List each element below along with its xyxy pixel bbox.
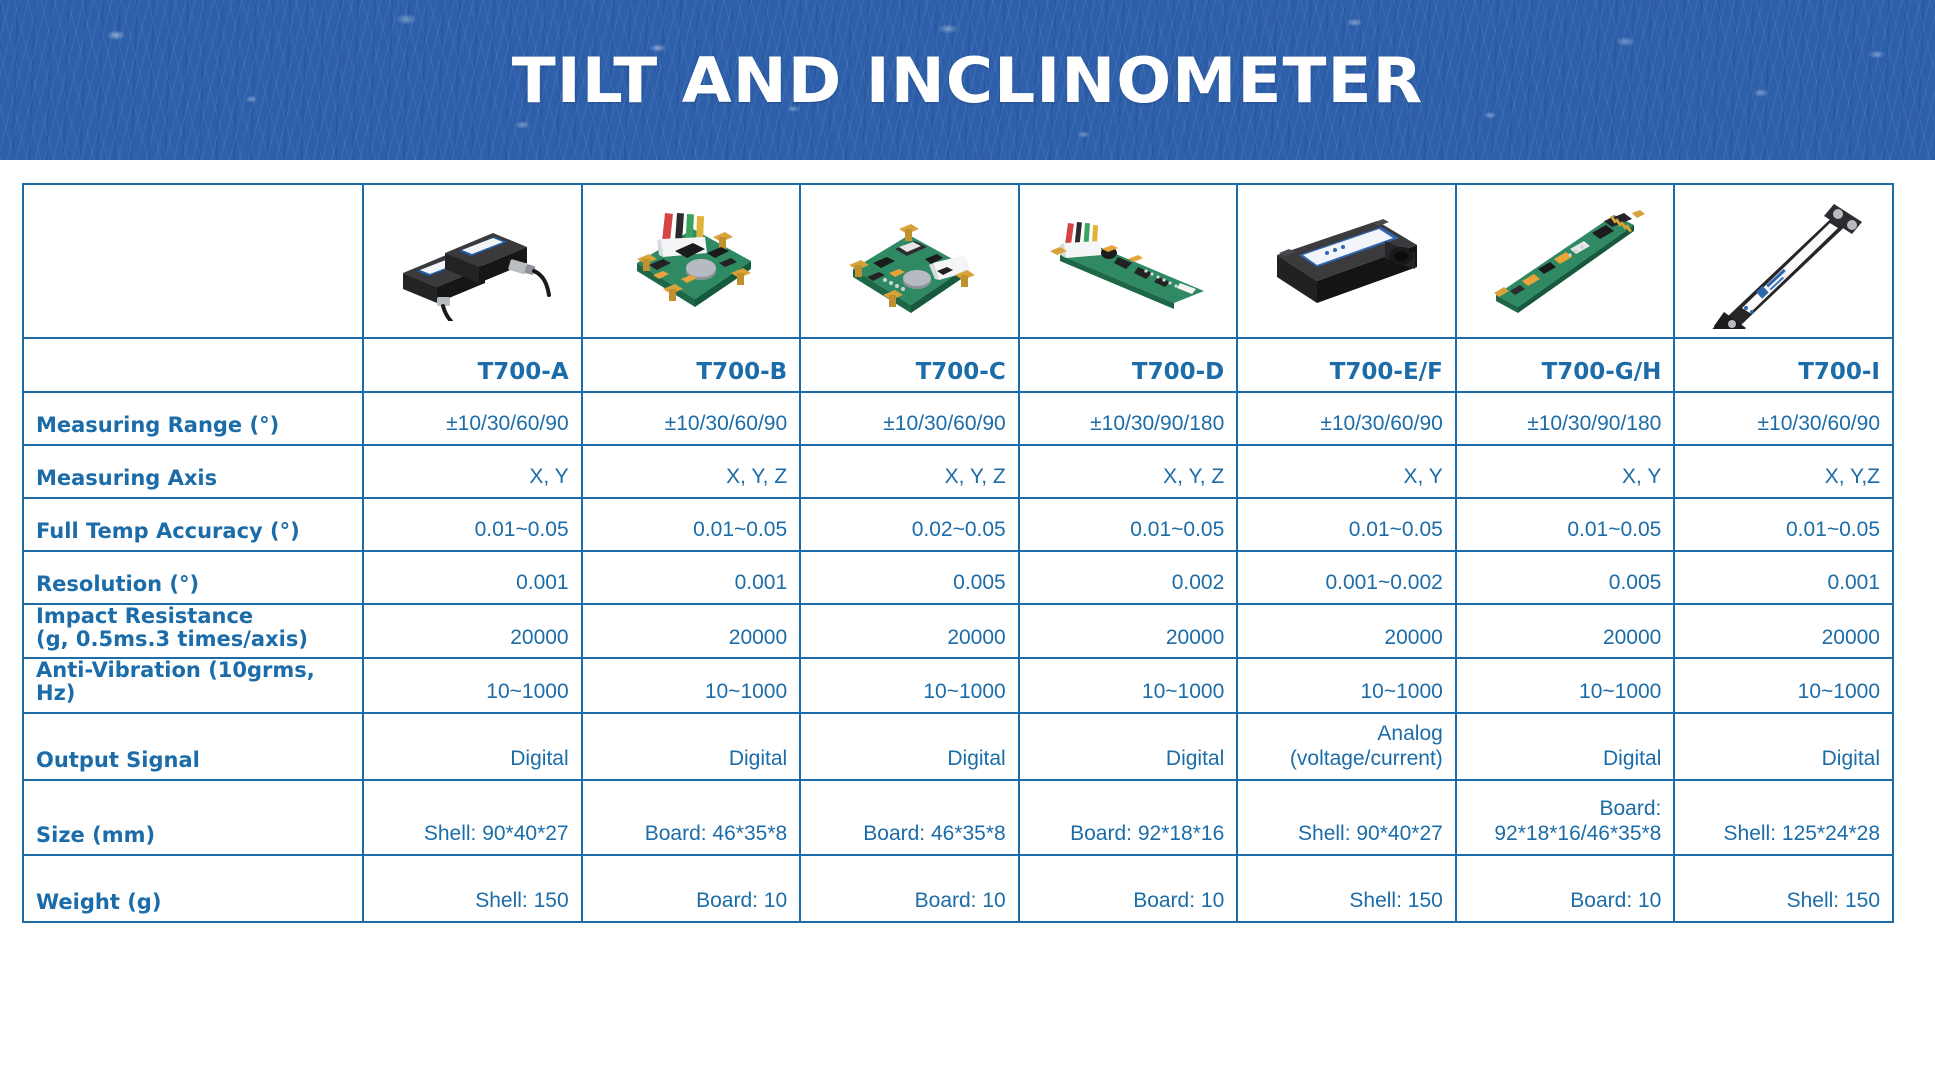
cell-size-t700a: Shell: 90*40*27	[363, 780, 582, 855]
cell-full-temp-accuracy-t700ef: 0.01~0.05	[1237, 498, 1456, 551]
model-name-row: T700-A T700-B T700-C T700-D T700-E/F T70…	[23, 338, 1893, 392]
table-row: Anti-Vibration (10grms, Hz) 10~1000 10~1…	[23, 658, 1893, 712]
cell-measuring-range-t700d: ±10/30/90/180	[1019, 392, 1238, 445]
green-pcb-board-with-white-connector-icon	[801, 186, 1018, 336]
model-name-t700d: T700-D	[1019, 338, 1238, 392]
cell-measuring-range-t700c: ±10/30/60/90	[800, 392, 1019, 445]
cell-weight-t700gh: Board: 10	[1456, 855, 1675, 922]
cell-weight-t700a: Shell: 150	[363, 855, 582, 922]
cell-full-temp-accuracy-t700i: 0.01~0.05	[1674, 498, 1893, 551]
cell-weight-t700ef: Shell: 150	[1237, 855, 1456, 922]
cell-measuring-axis-t700ef: X, Y	[1237, 445, 1456, 498]
cell-measuring-axis-t700gh: X, Y	[1456, 445, 1675, 498]
cell-measuring-axis-t700d: X, Y, Z	[1019, 445, 1238, 498]
cell-size-t700ef: Shell: 90*40*27	[1237, 780, 1456, 855]
row-label-measuring-range: Measuring Range (°)	[23, 392, 363, 445]
cell-impact-resistance-t700gh: 20000	[1456, 604, 1675, 658]
row-label-weight: Weight (g)	[23, 855, 363, 922]
cell-full-temp-accuracy-t700a: 0.01~0.05	[363, 498, 582, 551]
model-name-t700i: T700-I	[1674, 338, 1893, 392]
cell-weight-t700c: Board: 10	[800, 855, 1019, 922]
cell-measuring-axis-t700b: X, Y, Z	[582, 445, 801, 498]
cell-full-temp-accuracy-t700b: 0.01~0.05	[582, 498, 801, 551]
table-row: Full Temp Accuracy (°) 0.01~0.05 0.01~0.…	[23, 498, 1893, 551]
cell-anti-vibration-t700ef: 10~1000	[1237, 658, 1456, 712]
cell-weight-t700i: Shell: 150	[1674, 855, 1893, 922]
green-pcb-board-with-wire-connector-icon	[583, 186, 800, 336]
cell-size-t700gh: Board: 92*18*16/46*35*8	[1456, 780, 1675, 855]
cell-anti-vibration-t700b: 10~1000	[582, 658, 801, 712]
cell-anti-vibration-t700i: 10~1000	[1674, 658, 1893, 712]
cell-output-signal-t700gh: Digital	[1456, 713, 1675, 780]
cell-measuring-range-t700gh: ±10/30/90/180	[1456, 392, 1675, 445]
product-image-row	[23, 184, 1893, 338]
table-row: Resolution (°) 0.001 0.001 0.005 0.002 0…	[23, 551, 1893, 604]
cell-full-temp-accuracy-t700gh: 0.01~0.05	[1456, 498, 1675, 551]
cell-full-temp-accuracy-t700c: 0.02~0.05	[800, 498, 1019, 551]
product-image-cell-t700a	[363, 184, 582, 338]
cell-output-signal-t700b: Digital	[582, 713, 801, 780]
product-image-cell-t700b	[582, 184, 801, 338]
slim-green-pcb-module-icon	[1457, 186, 1674, 336]
cell-measuring-axis-t700c: X, Y, Z	[800, 445, 1019, 498]
cell-measuring-range-t700ef: ±10/30/60/90	[1237, 392, 1456, 445]
cell-measuring-range-t700i: ±10/30/60/90	[1674, 392, 1893, 445]
spec-table-wrapper: T700-A T700-B T700-C T700-D T700-E/F T70…	[22, 183, 1894, 923]
cell-resolution-t700i: 0.001	[1674, 551, 1893, 604]
cell-measuring-axis-t700a: X, Y	[363, 445, 582, 498]
cell-weight-t700d: Board: 10	[1019, 855, 1238, 922]
sensor-pair-black-housing-icon	[364, 186, 581, 336]
model-name-t700gh: T700-G/H	[1456, 338, 1675, 392]
cell-impact-resistance-t700c: 20000	[800, 604, 1019, 658]
table-corner-cell	[23, 184, 363, 338]
cell-impact-resistance-t700d: 20000	[1019, 604, 1238, 658]
product-image-cell-t700d	[1019, 184, 1238, 338]
cell-output-signal-t700ef: Analog (voltage/current)	[1237, 713, 1456, 780]
row-label-size: Size (mm)	[23, 780, 363, 855]
cell-anti-vibration-t700a: 10~1000	[363, 658, 582, 712]
cell-size-t700b: Board: 46*35*8	[582, 780, 801, 855]
model-name-t700c: T700-C	[800, 338, 1019, 392]
product-image-cell-t700i	[1674, 184, 1893, 338]
cell-impact-resistance-t700i: 20000	[1674, 604, 1893, 658]
cell-output-signal-t700c: Digital	[800, 713, 1019, 780]
cell-output-signal-t700a: Digital	[363, 713, 582, 780]
long-narrow-green-pcb-with-wires-icon	[1020, 186, 1237, 336]
cell-resolution-t700b: 0.001	[582, 551, 801, 604]
product-image-cell-t700ef	[1237, 184, 1456, 338]
table-row: Output Signal Digital Digital Digital Di…	[23, 713, 1893, 780]
row-label-anti-vibration: Anti-Vibration (10grms, Hz)	[23, 658, 363, 712]
table-row: Measuring Axis X, Y X, Y, Z X, Y, Z X, Y…	[23, 445, 1893, 498]
model-name-t700b: T700-B	[582, 338, 801, 392]
row-label-resolution: Resolution (°)	[23, 551, 363, 604]
product-image-cell-t700c	[800, 184, 1019, 338]
row-label-measuring-axis: Measuring Axis	[23, 445, 363, 498]
cell-resolution-t700c: 0.005	[800, 551, 1019, 604]
cell-anti-vibration-t700d: 10~1000	[1019, 658, 1238, 712]
cell-weight-t700b: Board: 10	[582, 855, 801, 922]
specification-table: T700-A T700-B T700-C T700-D T700-E/F T70…	[22, 183, 1894, 923]
product-image-cell-t700gh	[1456, 184, 1675, 338]
row-label-impact-resistance: Impact Resistance (g, 0.5ms.3 times/axis…	[23, 604, 363, 658]
page-banner: TILT AND INCLINOMETER	[0, 0, 1935, 160]
table-row: Size (mm) Shell: 90*40*27 Board: 46*35*8…	[23, 780, 1893, 855]
row-label-full-temp-accuracy: Full Temp Accuracy (°)	[23, 498, 363, 551]
cell-output-signal-t700i: Digital	[1674, 713, 1893, 780]
cell-resolution-t700gh: 0.005	[1456, 551, 1675, 604]
cell-size-t700d: Board: 92*18*16	[1019, 780, 1238, 855]
cell-measuring-range-t700a: ±10/30/60/90	[363, 392, 582, 445]
cell-anti-vibration-t700c: 10~1000	[800, 658, 1019, 712]
model-name-t700ef: T700-E/F	[1237, 338, 1456, 392]
row-label-output-signal: Output Signal	[23, 713, 363, 780]
cell-resolution-t700a: 0.001	[363, 551, 582, 604]
page-title: TILT AND INCLINOMETER	[0, 44, 1935, 117]
cell-measuring-range-t700b: ±10/30/60/90	[582, 392, 801, 445]
cell-full-temp-accuracy-t700d: 0.01~0.05	[1019, 498, 1238, 551]
black-rectangular-enclosure-icon	[1238, 186, 1455, 336]
cell-size-t700c: Board: 46*35*8	[800, 780, 1019, 855]
model-name-t700a: T700-A	[363, 338, 582, 392]
cell-measuring-axis-t700i: X, Y,Z	[1674, 445, 1893, 498]
model-row-corner	[23, 338, 363, 392]
cell-impact-resistance-t700ef: 20000	[1237, 604, 1456, 658]
cell-anti-vibration-t700gh: 10~1000	[1456, 658, 1675, 712]
table-row: Measuring Range (°) ±10/30/60/90 ±10/30/…	[23, 392, 1893, 445]
cell-impact-resistance-t700b: 20000	[582, 604, 801, 658]
cell-resolution-t700ef: 0.001~0.002	[1237, 551, 1456, 604]
table-row: Impact Resistance (g, 0.5ms.3 times/axis…	[23, 604, 1893, 658]
table-row: Weight (g) Shell: 150 Board: 10 Board: 1…	[23, 855, 1893, 922]
cell-output-signal-t700d: Digital	[1019, 713, 1238, 780]
cell-resolution-t700d: 0.002	[1019, 551, 1238, 604]
cell-size-t700i: Shell: 125*24*28	[1674, 780, 1893, 855]
cell-impact-resistance-t700a: 20000	[363, 604, 582, 658]
black-elongated-beam-inclinometer-icon	[1675, 186, 1892, 336]
